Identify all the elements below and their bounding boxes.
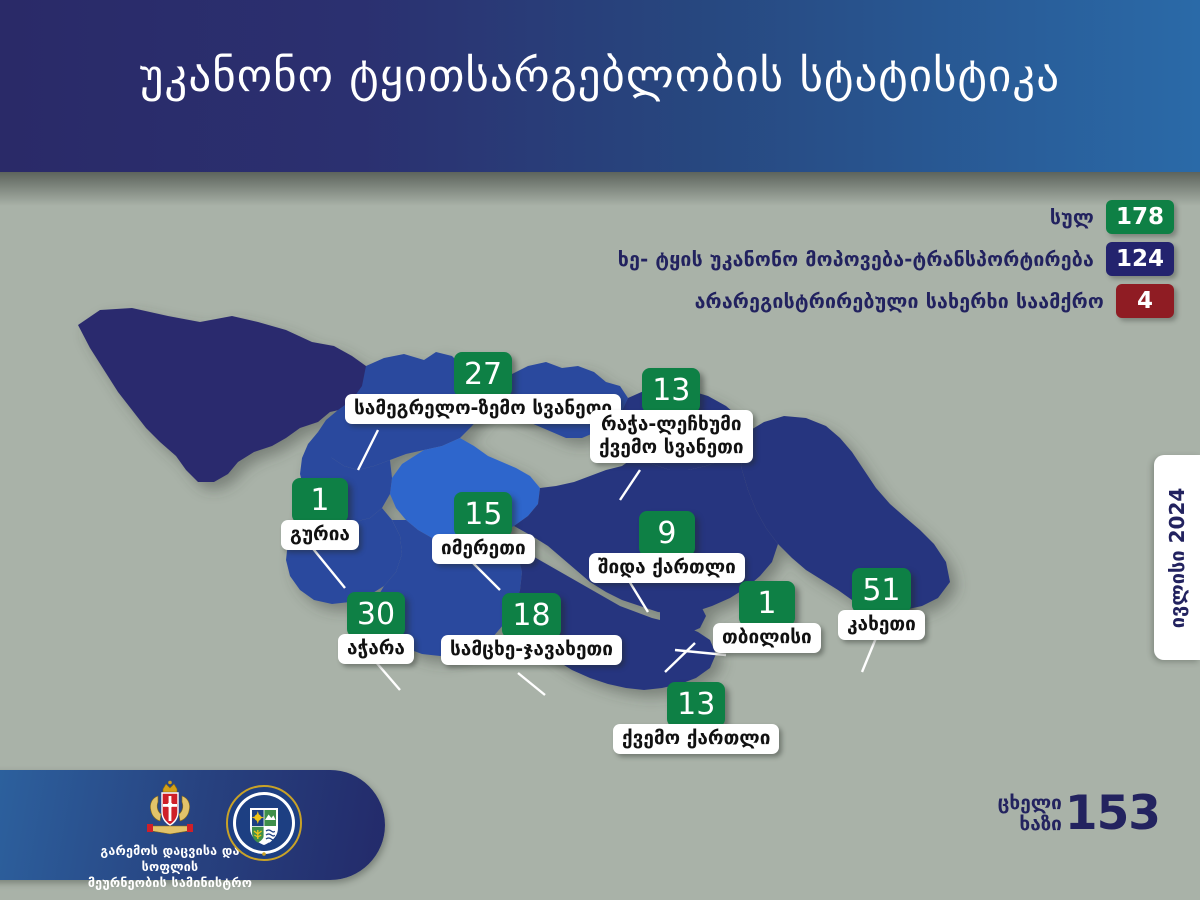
header-banner: უკანონო ტყითსარგებლობის სტატისტიკა xyxy=(0,0,1200,172)
legend: სულ 178 ხე- ტყის უკანონო მოპოვება-ტრანსპ… xyxy=(618,200,1174,326)
marker-adjara[interactable]: 30 აჭარა xyxy=(338,592,414,664)
footer-bar: გარემოს დაცვისა და სოფლის მეურნეობის სამ… xyxy=(0,770,385,880)
georgia-coat-of-arms-icon xyxy=(139,780,201,840)
marker-value-kvemo-kartli: 13 xyxy=(667,682,725,727)
marker-samegrelo[interactable]: 27 სამეგრელო-ზემო სვანეთი xyxy=(345,352,621,424)
marker-label-guria: გურია xyxy=(281,520,359,550)
marker-value-imereti: 15 xyxy=(454,492,512,537)
marker-value-guria: 1 xyxy=(292,478,348,523)
marker-label-samtskhe: სამცხე-ჯავახეთი xyxy=(441,635,622,665)
marker-label-samegrelo: სამეგრელო-ზემო სვანეთი xyxy=(345,394,621,424)
marker-value-samegrelo: 27 xyxy=(454,352,512,397)
legend-badge-total: 178 xyxy=(1106,200,1174,234)
marker-value-samtskhe: 18 xyxy=(502,593,560,638)
marker-samtskhe[interactable]: 18 სამცხე-ჯავახეთი xyxy=(441,593,622,665)
marker-shida-kartli[interactable]: 9 შიდა ქართლი xyxy=(589,511,745,583)
legend-row-sawmill: არარეგისტრირებული სახერხი საამქრო 4 xyxy=(618,284,1174,318)
hotline-word1: ცხელი xyxy=(998,792,1062,814)
legend-badge-sawmill: 4 xyxy=(1116,284,1174,318)
marker-label-imereti: იმერეთი xyxy=(432,534,535,564)
marker-value-tbilisi: 1 xyxy=(739,581,795,626)
date-tab-label: ივლისი 2024 xyxy=(1165,487,1189,628)
marker-tbilisi[interactable]: 1 თბილისი xyxy=(713,581,821,653)
marker-value-adjara: 30 xyxy=(347,592,405,637)
marker-kvemo-kartli[interactable]: 13 ქვემო ქართლი xyxy=(613,682,779,754)
legend-label-timber: ხე- ტყის უკანონო მოპოვება-ტრანსპორტირება xyxy=(618,248,1094,271)
marker-guria[interactable]: 1 გურია xyxy=(281,478,359,550)
marker-label-racha-line1: რაჭა-ლეჩხუმი xyxy=(601,413,742,435)
legend-label-sawmill: არარეგისტრირებული სახერხი საამქრო xyxy=(695,290,1104,313)
marker-label-racha: რაჭა-ლეჩხუმიქვემო სვანეთი xyxy=(590,410,753,463)
marker-imereti[interactable]: 15 იმერეთი xyxy=(432,492,535,564)
marker-value-kakheti: 51 xyxy=(852,568,910,613)
page-title: უკანონო ტყითსარგებლობის სტატისტიკა xyxy=(0,47,1200,105)
date-tab: ივლისი 2024 xyxy=(1154,455,1200,660)
legend-row-total: სულ 178 xyxy=(618,200,1174,234)
marker-label-shida-kartli: შიდა ქართლი xyxy=(589,553,745,583)
legend-badge-timber: 124 xyxy=(1106,242,1174,276)
hotline-number: 153 xyxy=(1065,786,1160,841)
marker-label-kvemo-kartli: ქვემო ქართლი xyxy=(613,724,779,754)
ministry-emblem-block xyxy=(225,784,303,866)
ministry-name-line1: გარემოს დაცვისა და სოფლის xyxy=(100,843,239,874)
legend-row-timber: ხე- ტყის უკანონო მოპოვება-ტრანსპორტირება… xyxy=(618,242,1174,276)
hotline-word2: ხაზი xyxy=(1019,813,1062,835)
marker-label-racha-line2: ქვემო სვანეთი xyxy=(599,436,744,458)
ministry-name-line2: მეურნეობის სამინისტრო xyxy=(88,875,252,890)
hotline-words: ცხელი ხაზი xyxy=(998,793,1062,835)
legend-label-total: სულ xyxy=(1050,206,1094,229)
marker-racha[interactable]: 13 რაჭა-ლეჩხუმიქვემო სვანეთი xyxy=(590,368,753,463)
marker-value-shida-kartli: 9 xyxy=(639,511,695,556)
ministry-emblem-icon xyxy=(225,784,303,862)
marker-label-tbilisi: თბილისი xyxy=(713,623,821,653)
marker-value-racha: 13 xyxy=(642,368,700,413)
hotline-block: ცხელი ხაზი 153 xyxy=(998,786,1160,841)
marker-label-adjara: აჭარა xyxy=(338,634,414,664)
marker-label-kakheti: კახეთი xyxy=(838,610,925,640)
marker-kakheti[interactable]: 51 კახეთი xyxy=(838,568,925,640)
